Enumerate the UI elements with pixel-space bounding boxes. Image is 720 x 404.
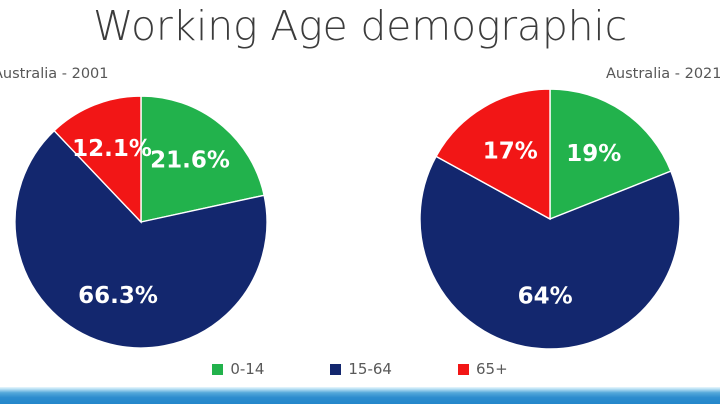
chart-legend: 0-1415-6465+	[0, 360, 720, 378]
pie-slice-label-2021-65+: 17%	[483, 138, 538, 164]
page-title: Working Age demographic	[0, 2, 720, 50]
legend-item[interactable]: 15-64	[330, 360, 392, 378]
pie-slice-label-2001-65+: 12.1%	[72, 136, 152, 162]
bottom-accent-bar	[0, 387, 720, 404]
legend-item[interactable]: 0-14	[212, 360, 264, 378]
pie-chart-2021-svg: 19%64%17%	[419, 88, 681, 350]
navy-square-icon	[330, 364, 341, 375]
legend-item-label: 15-64	[348, 360, 392, 378]
pie-chart-2021: 19%64%17%	[419, 88, 681, 350]
pie-slice-label-2021-0-14: 19%	[566, 141, 621, 167]
pie-slice-label-2001-0-14: 21.6%	[150, 148, 230, 174]
pie-chart-2001: 21.6%66.3%12.1%	[13, 93, 269, 351]
green-square-icon	[212, 364, 223, 375]
legend-item[interactable]: 65+	[458, 360, 508, 378]
legend-item-label: 65+	[476, 360, 508, 378]
pie-chart-2001-svg: 21.6%66.3%12.1%	[13, 93, 269, 351]
red-square-icon	[458, 364, 469, 375]
pie-slice-label-2001-15-64: 66.3%	[78, 283, 158, 309]
chart-caption-right: Australia - 2021	[606, 66, 720, 82]
legend-item-label: 0-14	[230, 360, 264, 378]
pie-slice-label-2021-15-64: 64%	[518, 283, 573, 309]
chart-caption-left: Australia - 2001	[0, 66, 109, 82]
slide-canvas: Working Age demographic Australia - 2001…	[0, 0, 720, 404]
